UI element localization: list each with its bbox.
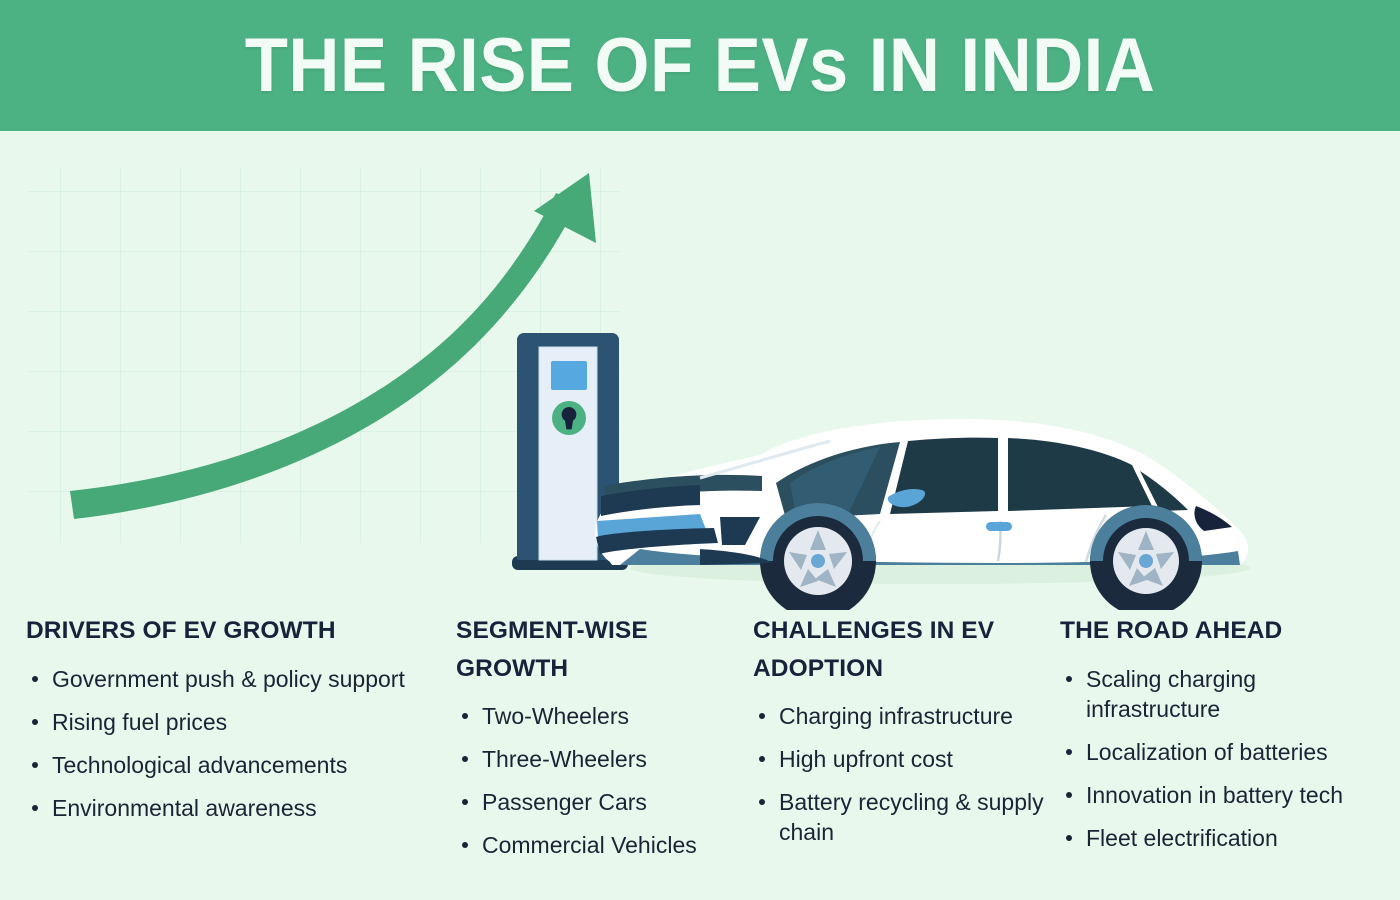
ev-charging-illustration: [0, 131, 1400, 610]
list-item: Rising fuel prices: [26, 707, 418, 737]
list-item: Three-Wheelers: [456, 744, 732, 774]
list-item: High upfront cost: [753, 744, 1049, 774]
charger-screen: [551, 361, 587, 390]
column-heading: THE ROAD AHEAD: [1060, 612, 1390, 650]
bullet-list: Two-Wheelers Three-Wheelers Passenger Ca…: [456, 701, 732, 860]
bullet-list: Scaling charging infrastructure Localiza…: [1060, 664, 1390, 853]
bullet-list: Government push & policy support Rising …: [26, 664, 418, 823]
infographic-page: THE RISE OF EVs IN INDIA: [0, 0, 1400, 900]
column-segment-wise-growth: SEGMENT-WISE GROWTH Two-Wheelers Three-W…: [456, 612, 732, 860]
list-item: Passenger Cars: [456, 787, 732, 817]
list-item: Environmental awareness: [26, 793, 418, 823]
list-item: Charging infrastructure: [753, 701, 1049, 731]
content-columns: DRIVERS OF EV GROWTH Government push & p…: [0, 612, 1400, 900]
list-item: Fleet electrification: [1060, 823, 1390, 853]
list-item: Two-Wheelers: [456, 701, 732, 731]
illustration-artwork: [0, 131, 1400, 610]
list-item: Commercial Vehicles: [456, 830, 732, 860]
list-item: Technological advancements: [26, 750, 418, 780]
list-item: Battery recycling & supply chain: [753, 787, 1049, 847]
front-door-handle: [986, 522, 1012, 531]
column-heading: SEGMENT-WISE GROWTH: [456, 612, 732, 688]
list-item: Localization of batteries: [1060, 737, 1390, 767]
column-heading: DRIVERS OF EV GROWTH: [26, 612, 418, 650]
column-the-road-ahead: THE ROAD AHEAD Scaling charging infrastr…: [1060, 612, 1390, 853]
list-item: Innovation in battery tech: [1060, 780, 1390, 810]
list-item: Scaling charging infrastructure: [1060, 664, 1390, 724]
column-challenges-in-ev-adoption: CHALLENGES IN EV ADOPTION Charging infra…: [753, 612, 1049, 847]
page-title: THE RISE OF EVs IN INDIA: [49, 0, 1351, 131]
column-heading: CHALLENGES IN EV ADOPTION: [753, 612, 1049, 688]
column-drivers-of-ev-growth: DRIVERS OF EV GROWTH Government push & p…: [26, 612, 418, 823]
list-item: Government push & policy support: [26, 664, 418, 694]
bullet-list: Charging infrastructure High upfront cos…: [753, 701, 1049, 847]
